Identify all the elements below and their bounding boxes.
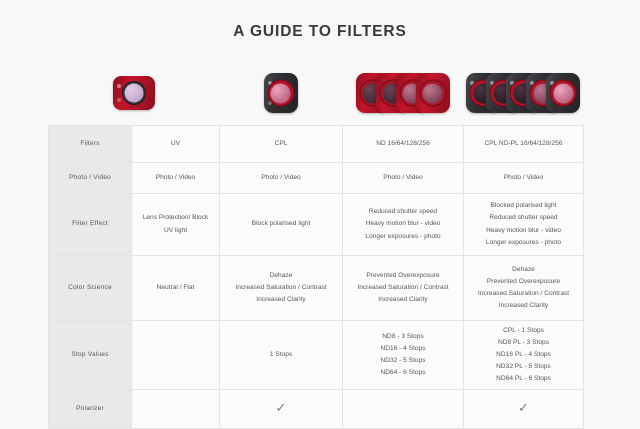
- filter-glass: [124, 84, 143, 103]
- cell-line: ND64 - 6 Stops: [347, 367, 459, 379]
- cell-line: Prevented Overexposure: [468, 276, 579, 288]
- cell-line: Reduced shutter speed: [347, 206, 459, 218]
- cell-line: ND32 PL - 5 Stops: [468, 361, 579, 373]
- cell-line: Photo / Video: [468, 172, 579, 184]
- cell-line: Dehaze: [468, 264, 579, 276]
- table-cell: UV: [132, 126, 220, 163]
- cell-line: UV: [136, 138, 215, 150]
- filter-glass: [271, 83, 291, 103]
- cell-line: Heavy motion blur - video: [468, 225, 579, 237]
- row-label: Filters: [49, 126, 132, 163]
- table-row: Stop Values 1 Stops ND8 - 3 Stops ND16 -…: [49, 321, 584, 390]
- table-cell: Photo / Video: [220, 163, 343, 194]
- table-row: Filters UV CPL ND 16/64/128/256 CPL ND-P…: [49, 126, 584, 163]
- row-label: Color Science: [49, 256, 132, 321]
- table-cell: Photo / Video: [132, 163, 220, 194]
- filter-guide-page: A GUIDE TO FILTERS: [0, 0, 640, 413]
- table-cell: CPL ND-PL 16/64/128/256: [464, 126, 584, 163]
- cell-line: CPL: [224, 138, 338, 150]
- cpl-nd-pl-filter-set-image: [463, 66, 583, 120]
- cell-line: Photo / Video: [136, 172, 215, 184]
- cell-line: Increased Saturation / Contrast: [468, 288, 579, 300]
- cell-line: Increased Saturation / Contrast: [224, 282, 338, 294]
- table-cell: CPL: [220, 126, 343, 163]
- row-label: Polarizer: [49, 390, 132, 429]
- table-cell: Photo / Video: [343, 163, 464, 194]
- table-cell: Prevented Overexposure Increased Saturat…: [343, 256, 464, 321]
- table-cell: Neutral / Flat: [132, 256, 220, 321]
- table-row: Photo / Video Photo / Video Photo / Vide…: [49, 163, 584, 194]
- cell-line: ND16 PL - 4 Stops: [468, 349, 579, 361]
- filter-glass: [423, 83, 443, 103]
- cell-line: Longer exposures - photo: [347, 231, 459, 243]
- cell-line: Increased Clarity: [468, 300, 579, 312]
- table-cell: [343, 390, 464, 429]
- table-cell: ND 16/64/128/256: [343, 126, 464, 163]
- cell-line: CPL ND-PL 16/64/128/256: [468, 138, 579, 150]
- row-label: Stop Values: [49, 321, 132, 390]
- cell-line: UV light: [136, 225, 215, 237]
- cell-line: Prevented Overexposure: [347, 270, 459, 282]
- cell-line: Increased Clarity: [224, 294, 338, 306]
- row-label: Filter Effect: [49, 194, 132, 256]
- filter-glass: [553, 83, 573, 103]
- filter-ring: [267, 80, 294, 107]
- cell-line: Blocked polarised light: [468, 200, 579, 212]
- nd-filter-set-image: [342, 66, 463, 120]
- filter-ring: [419, 80, 446, 107]
- cell-line: Increased Clarity: [347, 294, 459, 306]
- table-cell: ✓: [464, 390, 584, 429]
- row-label: Photo / Video: [49, 163, 132, 194]
- table-cell: 1 Stops: [220, 321, 343, 390]
- table-cell: Blocked polarised light Reduced shutter …: [464, 194, 584, 256]
- filter-chip: [264, 73, 298, 113]
- table-cell: Lens Protection/ Block UV light: [132, 194, 220, 256]
- table-row: Polarizer ✓ ✓: [49, 390, 584, 429]
- filter-notch-icon: [117, 98, 121, 102]
- page-title: A GUIDE TO FILTERS: [0, 23, 640, 41]
- check-icon: ✓: [276, 401, 287, 414]
- table-cell: [132, 390, 220, 429]
- cell-line: Dehaze: [224, 270, 338, 282]
- cell-line: Reduced shutter speed: [468, 212, 579, 224]
- cell-line: Neutral / Flat: [136, 282, 215, 294]
- cell-line: ND16 - 4 Stops: [347, 343, 459, 355]
- cell-line: Photo / Video: [224, 172, 338, 184]
- filter-chip: [416, 73, 450, 113]
- cell-line: Longer exposures - photo: [468, 237, 579, 249]
- table-cell: Reduced shutter speed Heavy motion blur …: [343, 194, 464, 256]
- filter-comparison-table: Filters UV CPL ND 16/64/128/256 CPL ND-P…: [48, 125, 584, 429]
- table-cell: ND8 - 3 Stops ND16 - 4 Stops ND32 - 5 St…: [343, 321, 464, 390]
- cell-line: ND64 PL - 6 Stops: [468, 373, 579, 385]
- cell-line: CPL - 1 Stops: [468, 325, 579, 337]
- cpl-filter-image: [219, 66, 342, 120]
- table-cell: [132, 321, 220, 390]
- table-cell: Dehaze Prevented Overexposure Increased …: [464, 256, 584, 321]
- cell-line: ND32 - 5 Stops: [347, 355, 459, 367]
- table-cell: Photo / Video: [464, 163, 584, 194]
- filter-ring: [122, 81, 146, 105]
- filter-chip: [546, 73, 580, 113]
- table-row: Filter Effect Lens Protection/ Block UV …: [49, 194, 584, 256]
- cell-line: 1 Stops: [224, 349, 338, 361]
- filter-notch-icon: [117, 84, 121, 88]
- cell-line: Increased Saturation / Contrast: [347, 282, 459, 294]
- table-cell: ✓: [220, 390, 343, 429]
- cell-line: Heavy motion blur - video: [347, 218, 459, 230]
- cell-line: ND 16/64/128/256: [347, 138, 459, 150]
- table-cell: Block polarised light: [220, 194, 343, 256]
- cell-line: Block polarised light: [224, 218, 338, 230]
- cell-line: ND8 PL - 3 Stops: [468, 337, 579, 349]
- filter-chip: [113, 76, 155, 110]
- cell-line: Photo / Video: [347, 172, 459, 184]
- check-icon: ✓: [518, 401, 529, 414]
- product-image-strip: [48, 66, 583, 120]
- uv-filter-image: [48, 66, 219, 120]
- cell-line: Lens Protection/ Block: [136, 212, 215, 224]
- table-cell: CPL - 1 Stops ND8 PL - 3 Stops ND16 PL -…: [464, 321, 584, 390]
- cell-line: ND8 - 3 Stops: [347, 331, 459, 343]
- table-row: Color Science Neutral / Flat Dehaze Incr…: [49, 256, 584, 321]
- table-cell: Dehaze Increased Saturation / Contrast I…: [220, 256, 343, 321]
- filter-ring: [550, 80, 577, 107]
